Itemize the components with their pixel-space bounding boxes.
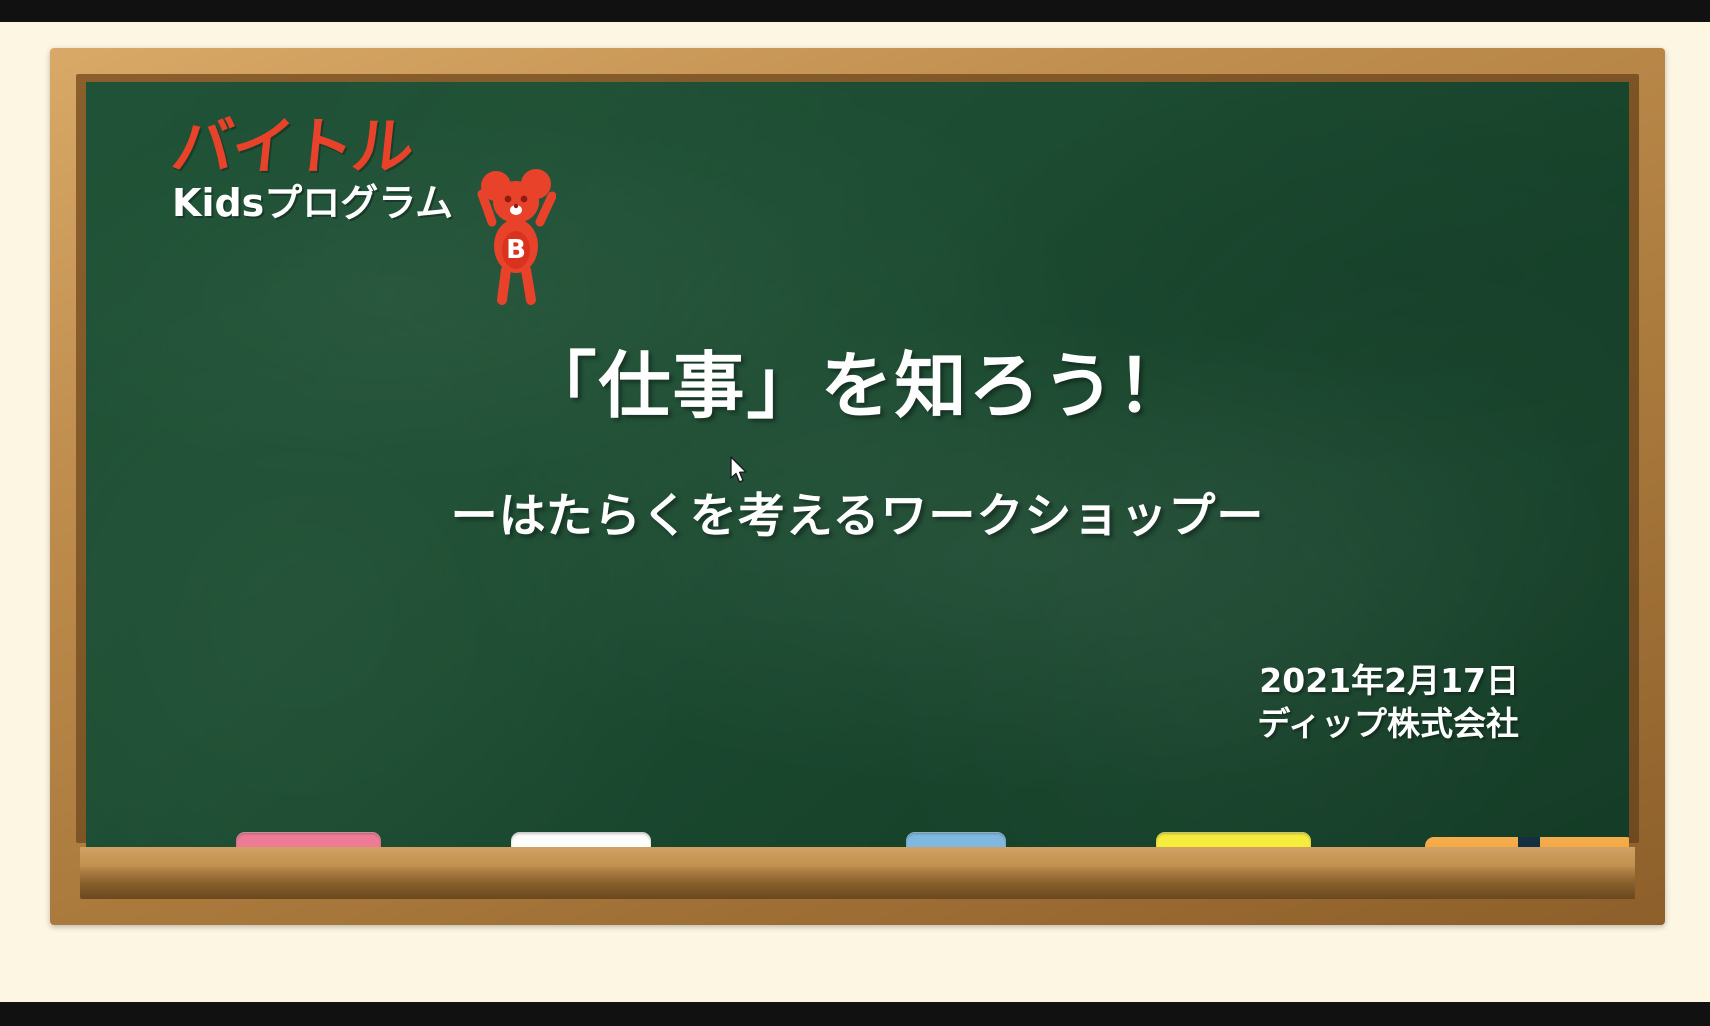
blackboard-eraser — [1421, 837, 1629, 847]
eraser-center-band — [1518, 837, 1540, 847]
credit-company: ディップ株式会社 — [1257, 703, 1519, 746]
video-stage: バイトル Kidsプログラム — [0, 0, 1710, 1026]
slide-credits: 2021年2月17日 ディップ株式会社 — [1257, 660, 1519, 746]
logo-sub-text: Kidsプログラム — [172, 184, 512, 222]
mascot-belly-letter: B — [506, 235, 526, 265]
chalk-yellow — [1156, 832, 1311, 847]
chalk-blue — [906, 832, 1006, 847]
slide-title: 「仕事」を知ろう！ — [86, 327, 1629, 432]
letterbox-top-bar — [0, 0, 1710, 22]
chalk-tray-ledge — [80, 847, 1635, 899]
letterbox-bottom-bar — [0, 1002, 1710, 1026]
baitoru-kids-logo: バイトル Kidsプログラム — [172, 116, 512, 256]
slide-subtitle: ーはたらくを考えるワークショップー — [86, 477, 1629, 546]
slide-canvas: バイトル Kidsプログラム — [0, 22, 1710, 1002]
tray-front-shadow — [80, 867, 1635, 899]
logo-brand-text: バイトル — [169, 116, 516, 178]
credit-date: 2021年2月17日 — [1257, 660, 1519, 703]
chalkboard-surface: バイトル Kidsプログラム — [86, 82, 1629, 847]
blackboard-wooden-frame: バイトル Kidsプログラム — [50, 48, 1665, 925]
chalk-pink — [236, 832, 381, 847]
chalk-white — [511, 832, 651, 847]
mouse-mascot-icon: B — [476, 160, 556, 305]
